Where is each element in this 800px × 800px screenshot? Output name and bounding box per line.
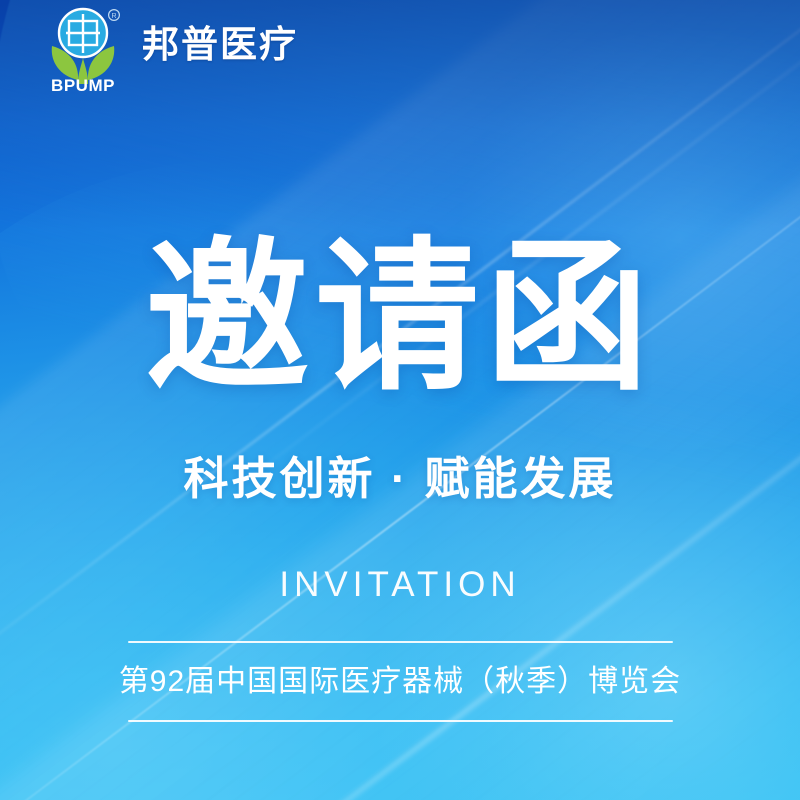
poster-content: 邀请函 科技创新 · 赋能发展 INVITATION 第92届中国国际医疗器械（…: [0, 0, 800, 800]
page-title: 邀请函: [145, 236, 655, 400]
company-name: 邦普医疗: [142, 26, 298, 73]
event-name: 第92届中国国际医疗器械（秋季）博览会: [119, 643, 681, 720]
tagline: 科技创新 · 赋能发展: [184, 456, 617, 501]
bpump-circle-leaf-logo-icon: R BPUMP: [46, 6, 124, 92]
invitation-subtitle-en: INVITATION: [279, 567, 520, 602]
logo-wordmark: BPUMP: [51, 76, 115, 92]
event-info-block: 第92届中国国际医疗器械（秋季）博览会: [128, 641, 673, 722]
invitation-poster: R BPUMP 邦普医疗 邀请函 科技创新 · 赋能发展 INVITATION …: [0, 0, 800, 800]
svg-text:R: R: [111, 13, 116, 20]
divider-bottom: [128, 720, 673, 722]
brand-lockup: R BPUMP 邦普医疗: [46, 6, 298, 92]
